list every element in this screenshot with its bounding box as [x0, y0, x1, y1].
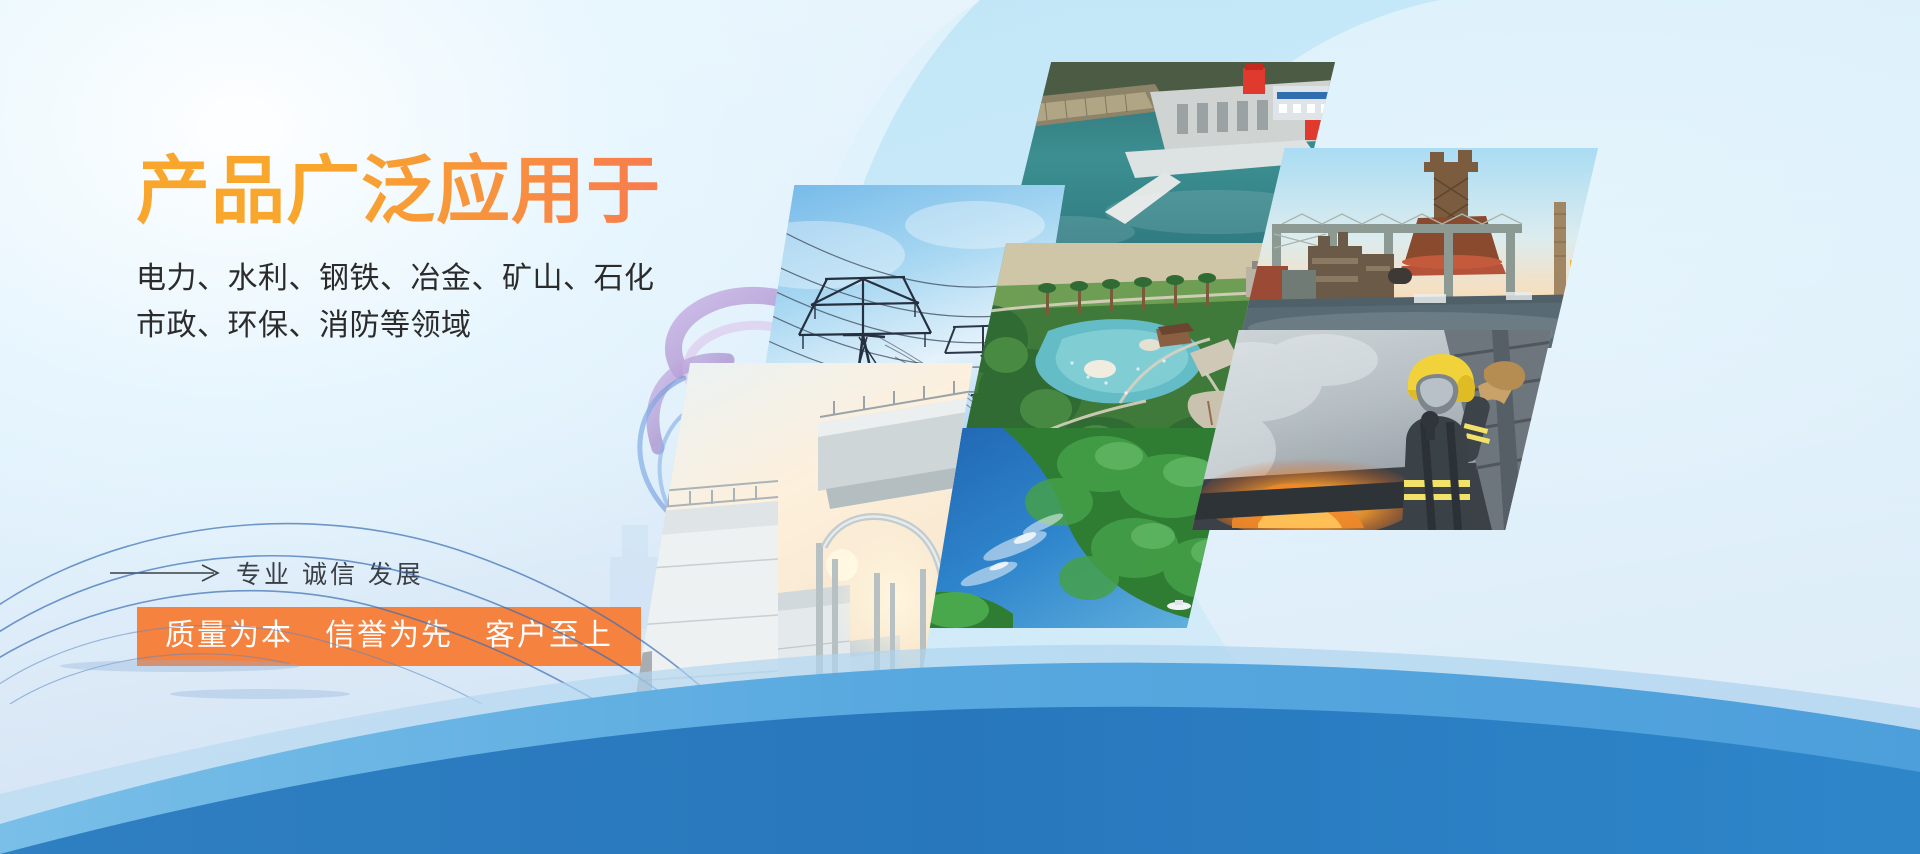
- subtitle-line-2: 市政、环保、消防等领域: [136, 302, 896, 349]
- tagline-text: 专业 诚信 发展: [236, 555, 424, 591]
- page-title: 产品广泛应用于: [136, 150, 896, 233]
- water-arc-lines: [0, 484, 1000, 704]
- arrow-right-icon: [110, 564, 222, 582]
- promo-banner: 产品广泛应用于 电力、水利、钢铁、冶金、矿山、石化 市政、环保、消防等领域 专业…: [0, 0, 1920, 854]
- subtitle-line-1: 电力、水利、钢铁、冶金、矿山、石化: [136, 255, 896, 302]
- motto-badge: 质量为本 信誉为先 客户至上: [137, 607, 641, 666]
- headline-block: 产品广泛应用于 电力、水利、钢铁、冶金、矿山、石化 市政、环保、消防等领域: [136, 150, 896, 350]
- photo-oil-storage-tanks: [628, 363, 973, 743]
- bottom-wave-shapes: [0, 494, 1920, 854]
- background-glow-right: [1140, 0, 1920, 520]
- photo-municipal-park-aerial: [960, 243, 1290, 458]
- photo-firefighter-training: [1192, 330, 1552, 530]
- photo-steel-mill-blast-furnace: [1238, 148, 1598, 348]
- city-skyline-silhouette: [600, 429, 1020, 629]
- subtitle-block: 电力、水利、钢铁、冶金、矿山、石化 市政、环保、消防等领域: [136, 255, 896, 350]
- photo-hydro-dam: [1005, 62, 1335, 252]
- photo-collage: [0, 0, 1920, 854]
- tagline-row: 专业 诚信 发展: [110, 555, 424, 591]
- cyan-swoosh-shape: [0, 0, 1920, 854]
- photo-river-forest-aerial: [903, 428, 1233, 628]
